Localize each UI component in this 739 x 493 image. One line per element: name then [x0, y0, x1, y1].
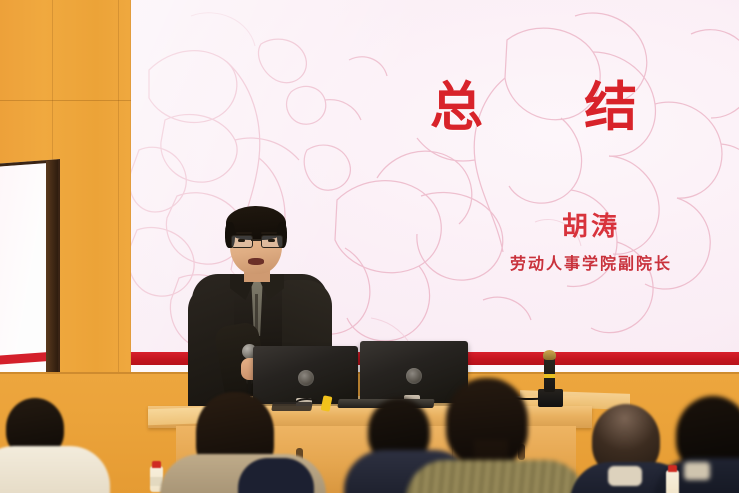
- speaker-eye-left: [238, 239, 245, 242]
- wall-groove: [118, 0, 119, 372]
- slide-title: 总 结: [426, 82, 686, 135]
- audience-body: [406, 460, 586, 493]
- audience-collar: [684, 462, 710, 480]
- audience-member: [0, 398, 104, 493]
- audience-body: [0, 446, 110, 493]
- wall-seam: [0, 100, 140, 101]
- presenter-title: 劳动人事学院副院长: [451, 250, 731, 274]
- audience-member: [398, 378, 578, 493]
- wall-groove: [52, 0, 53, 165]
- audience-collar: [608, 466, 642, 486]
- whiteboard-frame: [46, 160, 58, 383]
- speaker-eye-right: [268, 239, 275, 242]
- glasses-bridge: [251, 239, 261, 241]
- presentation-photo: 总 结 胡涛 劳动人事学院副院长: [0, 0, 739, 493]
- speaker-eyebrow-left: [236, 232, 252, 234]
- bottle-cap: [152, 461, 161, 468]
- bottle-cap: [668, 465, 677, 472]
- speaker-eyebrow-right: [261, 232, 277, 234]
- speaker-mouth: [248, 258, 264, 265]
- audience-member: [178, 392, 308, 493]
- microphone-grille-icon: [543, 350, 556, 360]
- water-bottle: [666, 470, 679, 493]
- presenter-name: 胡涛: [476, 206, 706, 243]
- dell-logo-icon: [298, 370, 314, 386]
